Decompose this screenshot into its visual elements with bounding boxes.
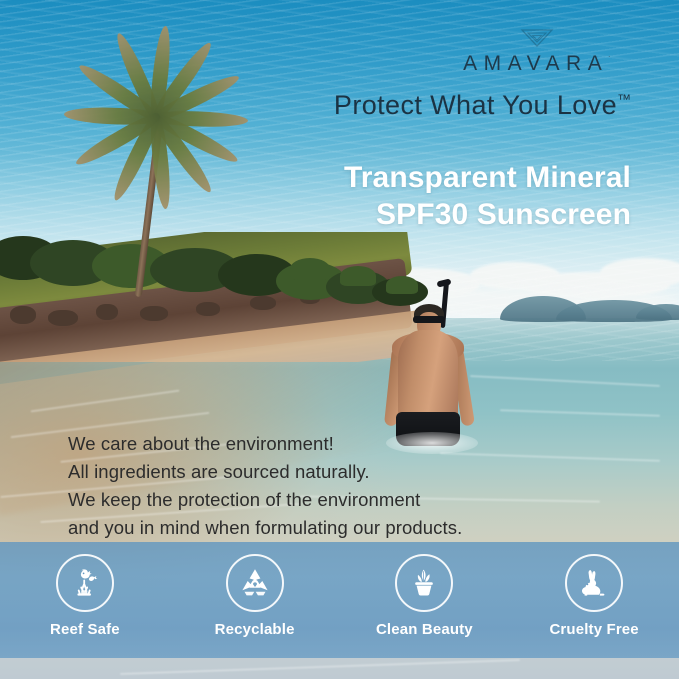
badge-recyclable: Recyclable xyxy=(180,554,330,638)
coral-fish-icon xyxy=(68,566,102,600)
rabbit-icon xyxy=(577,566,611,600)
body-line-1: We care about the environment! xyxy=(68,430,462,458)
tagline-tm-symbol: ™ xyxy=(617,91,631,107)
brand-wordmark: AMAVARA˙ xyxy=(447,52,627,76)
body-line-4: and you in mind when formulating our pro… xyxy=(68,514,462,542)
trust-badge-band: Reef Safe Recyclable xyxy=(0,542,679,658)
badge-label: Cruelty Free xyxy=(519,621,669,638)
palm-tree xyxy=(60,18,260,293)
man-wading-figure xyxy=(380,296,490,446)
inverted-triangle-logo-icon xyxy=(520,28,554,48)
brand-name-text: AMAVARA xyxy=(463,52,608,75)
badge-clean-beauty: Clean Beauty xyxy=(349,554,499,638)
brand-logo: AMAVARA˙ xyxy=(447,28,627,76)
headline-line-2: SPF30 Sunscreen xyxy=(344,197,631,234)
badge-circle xyxy=(565,554,623,612)
product-headline: Transparent Mineral SPF30 Sunscreen xyxy=(344,160,631,233)
body-line-3: We keep the protection of the environmen… xyxy=(68,486,462,514)
snorkel-mask-strap xyxy=(413,316,445,323)
advertisement-creative: AMAVARA˙ Protect What You Love™ Transpar… xyxy=(0,0,679,679)
tagline-text: Protect What You Love xyxy=(334,90,617,120)
recycling-arrows-icon xyxy=(238,566,272,600)
badge-label: Reef Safe xyxy=(10,621,160,638)
badge-circle xyxy=(226,554,284,612)
badge-label: Clean Beauty xyxy=(349,621,499,638)
headline-line-1: Transparent Mineral xyxy=(344,160,631,197)
badge-reef-safe: Reef Safe xyxy=(10,554,160,638)
badge-circle xyxy=(395,554,453,612)
mortar-bowl-leaves-icon xyxy=(407,566,441,600)
brand-trademark-mark: ˙ xyxy=(608,55,611,64)
brand-tagline: Protect What You Love™ xyxy=(334,90,631,121)
badge-label: Recyclable xyxy=(180,621,330,638)
body-line-2: All ingredients are sourced naturally. xyxy=(68,458,462,486)
environment-body-copy: We care about the environment! All ingre… xyxy=(68,430,462,542)
badge-cruelty-free: Cruelty Free xyxy=(519,554,669,638)
torso xyxy=(398,330,458,422)
badge-circle xyxy=(56,554,114,612)
